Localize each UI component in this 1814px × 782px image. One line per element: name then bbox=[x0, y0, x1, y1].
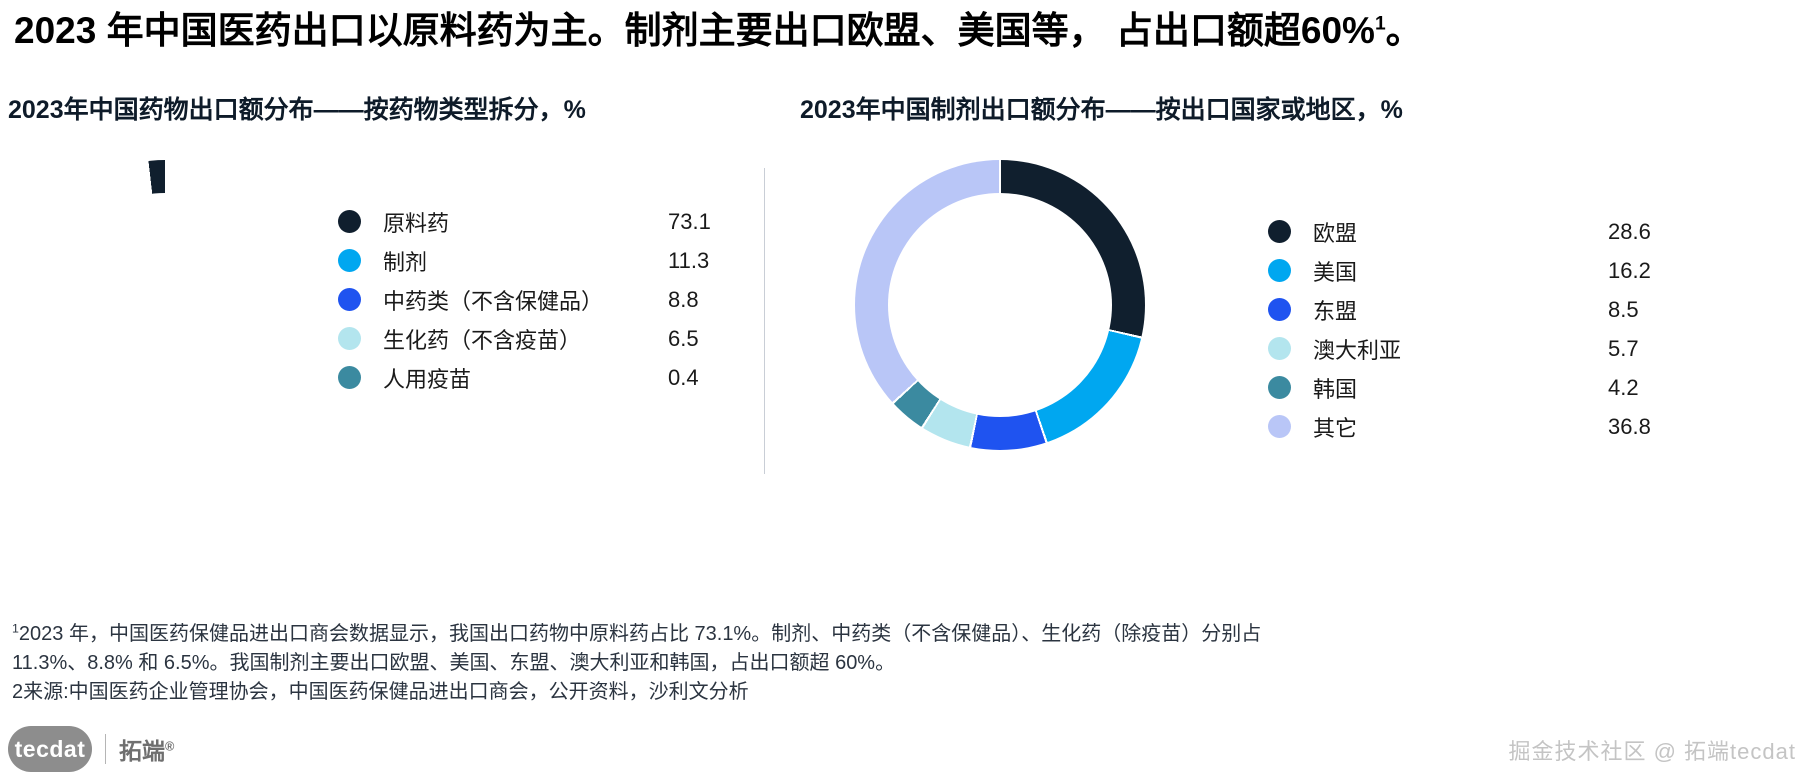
legend-color-swatch-icon bbox=[1268, 337, 1291, 360]
legend-left: 原料药73.1制剂11.3中药类（不含保健品）8.8生化药（不含疫苗）6.5人用… bbox=[338, 202, 738, 397]
page-title-footnote-marker: 1 bbox=[1375, 14, 1386, 35]
footnote-line-2: 11.3%、8.8% 和 6.5%。我国制剂主要出口欧盟、美国、东盟、澳大利亚和… bbox=[12, 649, 1802, 678]
legend-item-label: 制剂 bbox=[383, 245, 658, 277]
footnotes: 12023 年，中国医药保健品进出口商会数据显示，我国出口药物中原料药占比 73… bbox=[12, 620, 1802, 707]
donut-hole-left bbox=[53, 193, 277, 417]
legend-item: 其它36.8 bbox=[1268, 407, 1688, 446]
legend-color-swatch-icon bbox=[338, 210, 361, 233]
brand-badge: tecdat bbox=[8, 726, 92, 772]
legend-item: 原料药73.1 bbox=[338, 202, 738, 241]
legend-color-swatch-icon bbox=[1268, 259, 1291, 282]
legend-item: 制剂11.3 bbox=[338, 241, 738, 280]
watermark: 掘金技术社区 @ 拓端tecdat bbox=[1509, 734, 1797, 766]
legend-item-value: 0.4 bbox=[668, 365, 738, 391]
legend-item-label: 生化药（不含疫苗） bbox=[383, 323, 658, 355]
footnote-line-3: 2来源:中国医药企业管理协会，中国医药保健品进出口商会，公开资料，沙利文分析 bbox=[12, 678, 1802, 707]
footnote-text-1: 2023 年，中国医药保健品进出口商会数据显示，我国出口药物中原料药占比 73.… bbox=[19, 623, 1261, 645]
legend-color-swatch-icon bbox=[338, 366, 361, 389]
legend-color-swatch-icon bbox=[1268, 415, 1291, 438]
legend-item-value: 11.3 bbox=[668, 248, 738, 274]
legend-item-value: 73.1 bbox=[668, 209, 738, 235]
legend-color-swatch-icon bbox=[338, 327, 361, 350]
brand-logo: tecdat 拓端® bbox=[8, 724, 174, 774]
legend-item-label: 东盟 bbox=[1313, 294, 1598, 326]
legend-item-value: 4.2 bbox=[1608, 375, 1688, 401]
brand-registered-mark: ® bbox=[165, 739, 174, 753]
legend-item-label: 其它 bbox=[1313, 411, 1598, 443]
donut-chart-right-wrap bbox=[855, 160, 1145, 450]
footnote-marker-2: 2 bbox=[12, 681, 23, 703]
legend-item: 欧盟28.6 bbox=[1268, 212, 1688, 251]
legend-item-label: 韩国 bbox=[1313, 372, 1598, 404]
page-title: 2023 年中国医药出口以原料药为主。制剂主要出口欧盟、美国等， 占出口额超60… bbox=[14, 8, 1804, 54]
legend-item-value: 8.5 bbox=[1608, 297, 1688, 323]
legend-item-value: 6.5 bbox=[668, 326, 738, 352]
footnote-marker-1: 1 bbox=[12, 621, 19, 635]
donut-chart-left-wrap bbox=[20, 160, 310, 450]
legend-color-swatch-icon bbox=[338, 288, 361, 311]
donut-hole-right bbox=[888, 193, 1112, 417]
legend-item-label: 原料药 bbox=[383, 206, 658, 238]
legend-item-value: 28.6 bbox=[1608, 219, 1688, 245]
legend-item: 澳大利亚5.7 bbox=[1268, 329, 1688, 368]
legend-item: 生化药（不含疫苗）6.5 bbox=[338, 319, 738, 358]
legend-item-value: 5.7 bbox=[1608, 336, 1688, 362]
legend-item-value: 36.8 bbox=[1608, 414, 1688, 440]
legend-right: 欧盟28.6美国16.2东盟8.5澳大利亚5.7韩国4.2其它36.8 bbox=[1268, 212, 1688, 446]
legend-color-swatch-icon bbox=[1268, 376, 1291, 399]
footer: tecdat 拓端® 掘金技术社区 @ 拓端tecdat bbox=[0, 718, 1814, 782]
legend-item-label: 中药类（不含保健品） bbox=[383, 284, 658, 316]
donut-chart-left bbox=[20, 160, 310, 450]
chart-subtitle-right: 2023年中国制剂出口额分布——按出口国家或地区，% bbox=[800, 90, 1403, 126]
brand-name-text: 拓端 bbox=[119, 738, 165, 764]
chart-panel-right: 欧盟28.6美国16.2东盟8.5澳大利亚5.7韩国4.2其它36.8 bbox=[790, 150, 1814, 510]
legend-item: 韩国4.2 bbox=[1268, 368, 1688, 407]
legend-item-value: 8.8 bbox=[668, 287, 738, 313]
legend-item: 中药类（不含保健品）8.8 bbox=[338, 280, 738, 319]
legend-color-swatch-icon bbox=[1268, 298, 1291, 321]
chart-subtitle-left: 2023年中国药物出口额分布——按药物类型拆分，% bbox=[8, 90, 586, 126]
page-title-tail: 。 bbox=[1386, 10, 1423, 51]
brand-divider bbox=[105, 734, 106, 764]
page-title-text: 2023 年中国医药出口以原料药为主。制剂主要出口欧盟、美国等， 占出口额超60… bbox=[14, 10, 1375, 51]
chart-panel-left: 原料药73.1制剂11.3中药类（不含保健品）8.8生化药（不含疫苗）6.5人用… bbox=[0, 150, 760, 510]
legend-item: 美国16.2 bbox=[1268, 251, 1688, 290]
donut-chart-right bbox=[855, 160, 1145, 450]
legend-item-label: 欧盟 bbox=[1313, 216, 1598, 248]
infographic-page: 2023 年中国医药出口以原料药为主。制剂主要出口欧盟、美国等， 占出口额超60… bbox=[0, 0, 1814, 782]
footnote-text-3: 来源:中国医药企业管理协会，中国医药保健品进出口商会，公开资料，沙利文分析 bbox=[23, 681, 749, 703]
legend-item-label: 人用疫苗 bbox=[383, 362, 658, 394]
legend-item-value: 16.2 bbox=[1608, 258, 1688, 284]
panel-divider bbox=[764, 168, 765, 474]
legend-item: 人用疫苗0.4 bbox=[338, 358, 738, 397]
legend-item-label: 美国 bbox=[1313, 255, 1598, 287]
footnote-line-1: 12023 年，中国医药保健品进出口商会数据显示，我国出口药物中原料药占比 73… bbox=[12, 620, 1802, 649]
legend-color-swatch-icon bbox=[338, 249, 361, 272]
legend-color-swatch-icon bbox=[1268, 220, 1291, 243]
legend-item-label: 澳大利亚 bbox=[1313, 333, 1598, 365]
brand-name: 拓端® bbox=[119, 732, 174, 766]
legend-item: 东盟8.5 bbox=[1268, 290, 1688, 329]
